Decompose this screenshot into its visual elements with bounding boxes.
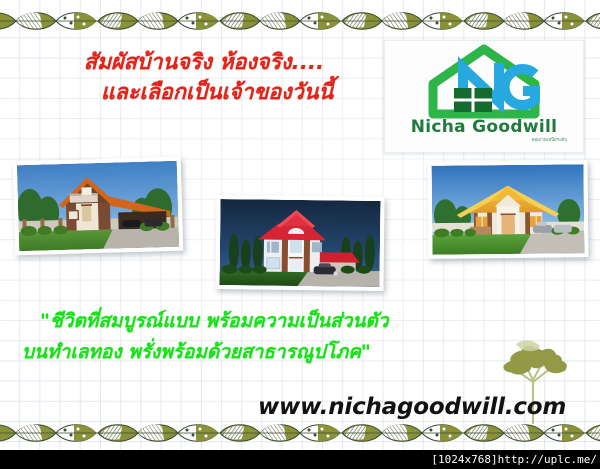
brand-wordmark: Nicha Goodwill [385,118,583,137]
house-photo-3-image [432,164,585,255]
watermark-bar: [1024x768]http://uplc.me/ [0,450,600,469]
poster-canvas: สัมผัสบ้านจริง ห้องจริง.... และเลือกเป็น… [0,0,600,450]
watermark-text: [1024x768]http://uplc.me/ [431,453,597,466]
brand-subtext: คุณภาพเหนือระดับ [385,137,583,144]
leaf-vine-border-top [0,6,600,36]
tagline-line-1: "ชีวิตที่สมบูรณ์แบบ พร้อมความเป็นส่วนตัว [22,306,472,337]
headline-line-2: และเลือกเป็นเจ้าของวันนี้ [24,78,384,108]
house-photo-1-image [17,161,179,251]
house-photo-2[interactable] [215,195,384,291]
house-photo-1[interactable] [13,157,184,256]
house-monogram-icon [423,44,545,120]
tagline-line-2: บนทำเลทอง พรั่งพร้อมด้วยสาธารณูปโภค" [22,337,472,368]
leaf-vine-border-bottom [0,418,600,448]
headline-line-1: สัมผัสบ้านจริง ห้องจริง.... [24,48,384,78]
headline: สัมผัสบ้านจริง ห้องจริง.... และเลือกเป็น… [24,48,384,108]
brand-logo: Nicha Goodwill คุณภาพเหนือระดับ [384,40,584,153]
website-url[interactable]: www.nichagoodwill.com [258,394,566,420]
house-photo-2-image [219,199,380,287]
tagline-quote: "ชีวิตที่สมบูรณ์แบบ พร้อมความเป็นส่วนตัว… [22,306,472,368]
house-photo-3[interactable] [427,160,588,259]
